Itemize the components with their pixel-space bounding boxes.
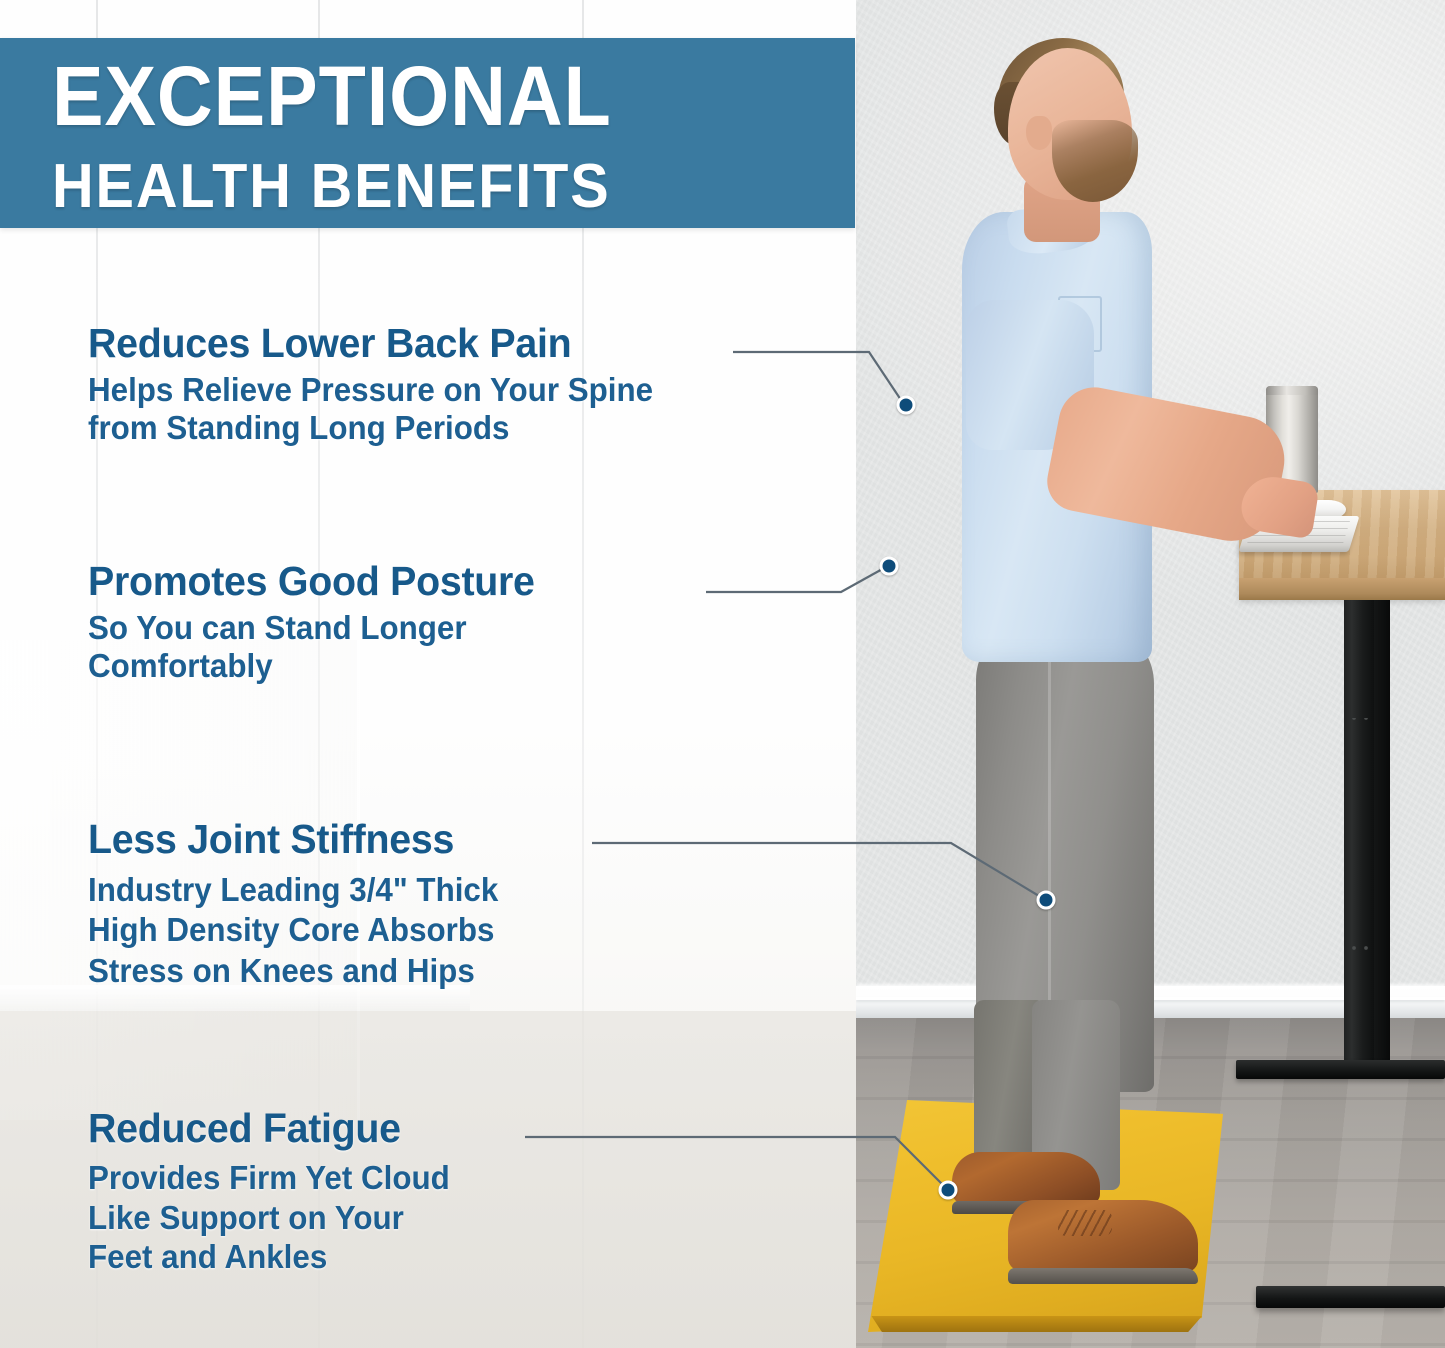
benefit-body-1: Helps Relieve Pressure on Your Spine fro…	[88, 371, 653, 448]
callout-pin-3	[1037, 891, 1056, 910]
callout-pin-2	[880, 557, 899, 576]
shoe-laces	[1058, 1210, 1112, 1236]
benefit-body-line: High Density Core Absorbs	[88, 910, 498, 950]
infographic-canvas: EXCEPTIONAL HEALTH BENEFITS Reduces Lowe…	[0, 0, 1445, 1348]
callout-pin-4	[939, 1181, 958, 1200]
benefit-body-line: Helps Relieve Pressure on Your Spine	[88, 371, 653, 409]
shoe-back	[952, 1152, 1100, 1204]
callout-pin-1	[897, 396, 916, 415]
person	[856, 0, 1445, 1348]
benefit-body-line: Like Support on Your	[88, 1198, 450, 1238]
benefit-block-3: Less Joint Stiffness Industry Leading 3/…	[88, 818, 520, 991]
benefit-title-1: Reduces Lower Back Pain	[88, 322, 659, 365]
benefit-block-4: Reduced Fatigue Provides Firm Yet Cloud …	[88, 1107, 469, 1277]
header-banner: EXCEPTIONAL HEALTH BENEFITS	[0, 38, 855, 228]
benefit-title-4: Reduced Fatigue	[88, 1107, 454, 1150]
benefit-body-line: Provides Firm Yet Cloud	[88, 1158, 450, 1198]
benefit-body-4: Provides Firm Yet Cloud Like Support on …	[88, 1158, 450, 1277]
benefit-title-2: Promotes Good Posture	[88, 560, 535, 603]
benefit-body-line: Stress on Knees and Hips	[88, 951, 498, 991]
benefit-body-2: So You can Stand Longer Comfortably	[88, 609, 530, 686]
beard	[1052, 120, 1138, 202]
benefit-body-line: Comfortably	[88, 647, 530, 685]
benefit-title-3: Less Joint Stiffness	[88, 818, 503, 861]
benefit-block-2: Promotes Good Posture So You can Stand L…	[88, 560, 553, 686]
banner-title-line2: HEALTH BENEFITS	[52, 156, 799, 218]
benefit-block-1: Reduces Lower Back Pain Helps Relieve Pr…	[88, 322, 683, 448]
banner-title-line1: EXCEPTIONAL	[52, 54, 791, 138]
benefit-body-3: Industry Leading 3/4" Thick High Density…	[88, 870, 498, 991]
product-photo	[856, 0, 1445, 1348]
benefit-body-line: Industry Leading 3/4" Thick	[88, 870, 498, 910]
benefit-body-line: So You can Stand Longer	[88, 609, 530, 647]
benefit-body-line: from Standing Long Periods	[88, 409, 653, 447]
benefit-body-line: Feet and Ankles	[88, 1237, 450, 1277]
ear	[1026, 116, 1052, 150]
